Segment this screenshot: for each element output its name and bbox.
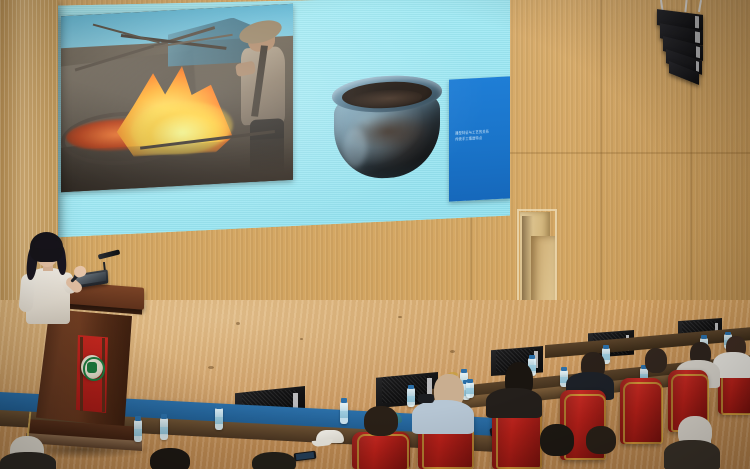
- audience-seat[interactable]: [352, 432, 410, 469]
- water-bottle[interactable]: [160, 418, 168, 440]
- water-bottle[interactable]: [340, 402, 348, 424]
- conference-hall-photo: 器型特征与工艺的关系 传统手工锻造特点: [0, 0, 750, 469]
- audience-shoulders: [0, 452, 56, 469]
- water-bottle[interactable]: [407, 388, 415, 407]
- institution-emblem: [81, 355, 103, 379]
- audience-head: [252, 452, 296, 469]
- audience-head: [364, 406, 398, 436]
- eyeglasses: [418, 394, 434, 403]
- white-cap[interactable]: [316, 430, 344, 443]
- audience-head: [150, 448, 190, 469]
- audience-seat[interactable]: [620, 378, 662, 444]
- audience-head: [645, 348, 667, 373]
- presenter-fringe: [34, 239, 60, 249]
- emblem-core: [87, 362, 97, 373]
- presenter: [14, 232, 90, 324]
- water-bottle[interactable]: [215, 408, 223, 430]
- audience-head: [586, 426, 616, 454]
- ceiling-line-array-speaker: [655, 4, 711, 86]
- audience-shoulders: [486, 388, 542, 418]
- water-bottle[interactable]: [466, 382, 474, 398]
- screen-glare: [45, 0, 510, 244]
- audience-shoulders: [412, 400, 474, 434]
- suspension-cable: [684, 0, 687, 12]
- audience-shoulders: [664, 440, 720, 469]
- audience-head: [540, 424, 574, 456]
- water-bottle[interactable]: [134, 420, 142, 442]
- projection-screen: 器型特征与工艺的关系 传统手工锻造特点: [45, 0, 510, 244]
